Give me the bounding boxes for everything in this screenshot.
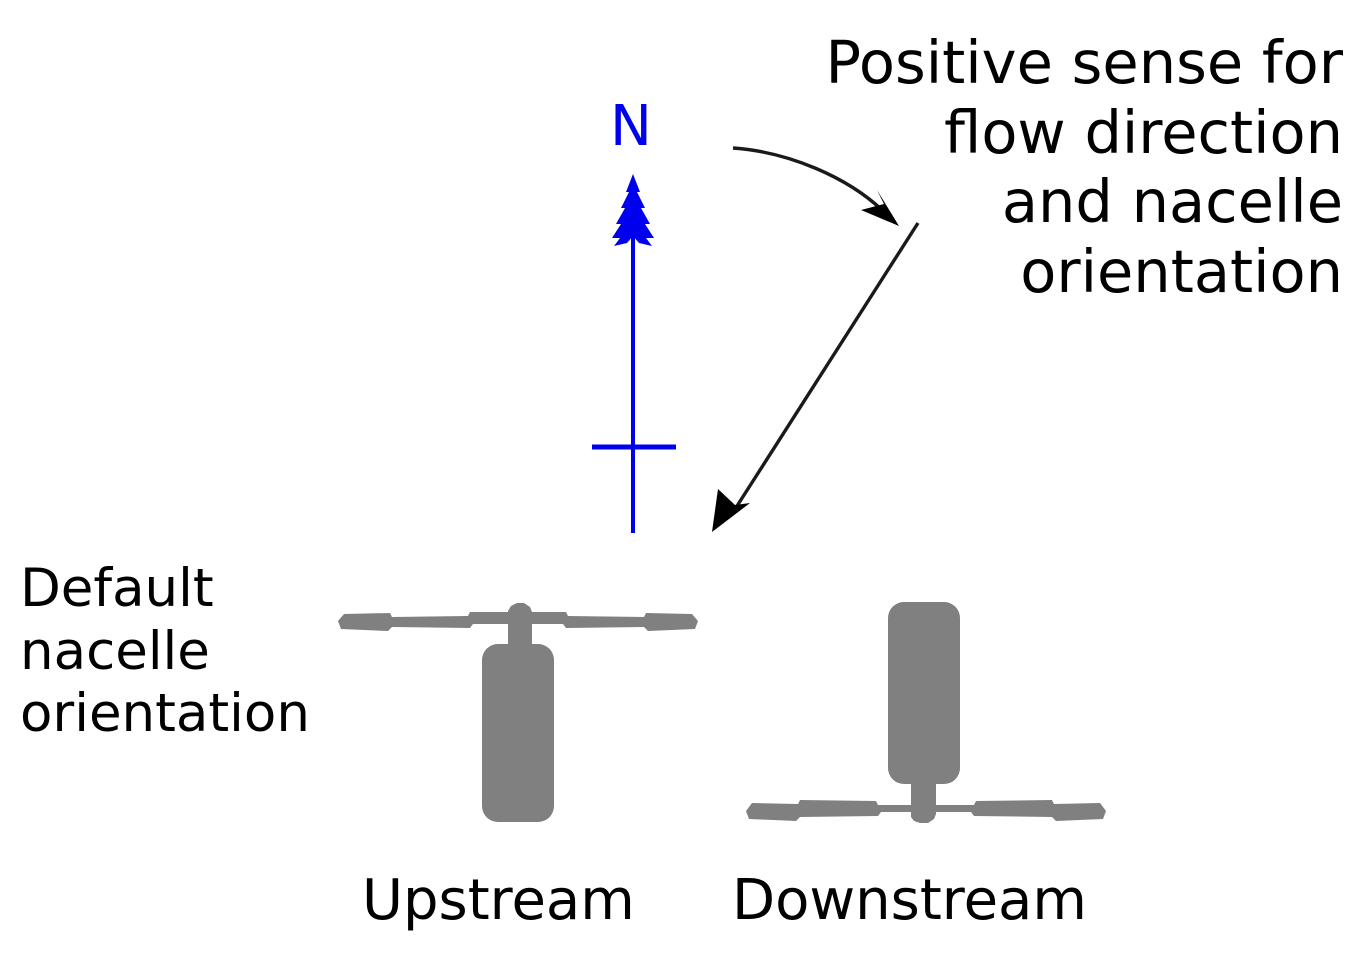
downstream-blade-left	[746, 800, 917, 821]
downstream-label: Downstream	[732, 868, 1087, 934]
north-label: N	[610, 94, 652, 160]
north-arrowhead-icon	[612, 174, 654, 246]
upstream-label: Upstream	[362, 868, 635, 934]
upstream-nacelle-body	[482, 644, 554, 822]
upstream-blade-right	[527, 612, 698, 631]
north-arrow	[592, 174, 676, 533]
upstream-blade-left	[338, 612, 509, 631]
downstream-nacelle-body	[888, 602, 960, 784]
default-nacelle-orientation-note: Default nacelle orientation	[20, 558, 310, 746]
downstream-turbine	[746, 602, 1106, 823]
upstream-hub	[508, 603, 532, 651]
positive-sense-note: Positive sense for flow direction and na…	[825, 28, 1343, 306]
downstream-blade-right	[935, 800, 1106, 821]
upstream-turbine	[338, 603, 698, 822]
downstream-hub	[911, 778, 936, 823]
